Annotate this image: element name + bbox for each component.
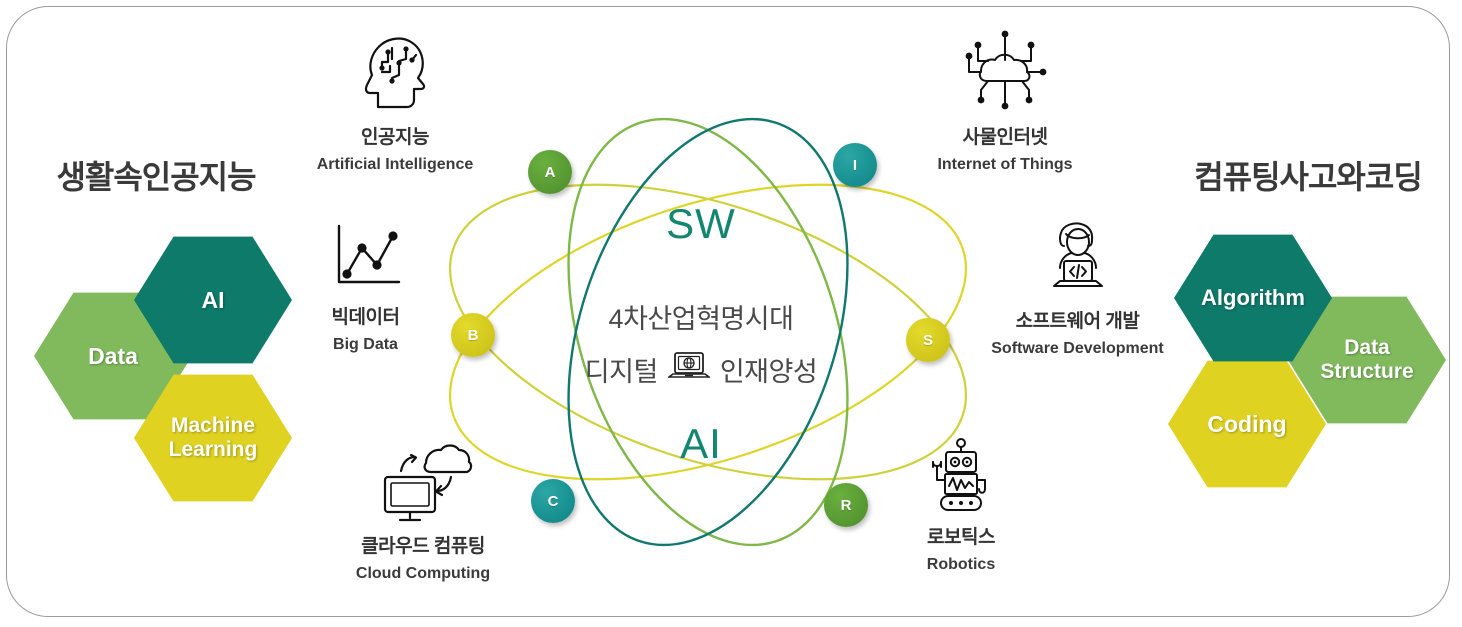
hexagon-data-structure-label: Data Structure [1320,336,1413,384]
robot-icon [836,438,1086,514]
hexagon-coding-label: Coding [1207,411,1286,437]
center-headline-before: 디지털 [585,350,658,389]
topic-cloud-label-en: Cloud Computing [298,565,548,583]
topic-sw-label-en: Software Development [945,340,1210,358]
center-headline-line1: 4차산업혁명시대 [541,297,861,336]
right-panel-title: 컴퓨팅사고와코딩 [1172,152,1444,198]
line-chart-icon [243,218,488,294]
topic-iot-label-en: Internet of Things [880,156,1130,174]
cloud-monitor-sync-icon [298,437,548,523]
ds-line1: Data [1344,336,1390,359]
infographic-canvas: 생활속인공지능 Data Machine Learning AI 컴퓨팅사고와코… [0,0,1462,627]
topic-robotics[interactable]: 로보틱스 Robotics [836,438,1086,574]
badge-artificial-intelligence[interactable]: A [528,150,572,194]
center-sw-label: SW [611,200,791,248]
topic-cloud-computing[interactable]: 클라우드 컴퓨팅 Cloud Computing [298,437,548,583]
ds-line2: Structure [1320,360,1413,383]
topic-ai-label-ko: 인공지능 [270,122,520,149]
hexagon-algorithm-label: Algorithm [1201,285,1305,310]
person-laptop-code-icon [945,222,1210,298]
center-ai-label: AI [611,420,791,468]
topic-internet-of-things[interactable]: 사물인터넷 Internet of Things [880,28,1130,174]
topic-ai-label-en: Artificial Intelligence [270,156,520,174]
center-headline-line2: 디지털 인재양성 [531,350,871,389]
hexagon-ai-label: AI [202,287,225,313]
left-panel-title: 생활속인공지능 [24,152,288,198]
badge-software-development[interactable]: S [906,318,950,362]
cloud-network-nodes-icon [880,28,1130,114]
topic-sw-label-ko: 소프트웨어 개발 [945,306,1210,333]
laptop-globe-icon [668,350,710,389]
topic-big-data[interactable]: 빅데이터 Big Data [243,218,488,354]
topic-robotics-label-en: Robotics [836,556,1086,574]
hexagon-data-label: Data [88,343,138,369]
center-headline-after: 인재양성 [720,350,817,389]
brain-head-circuit-icon [270,28,520,114]
ml-line1: Machine [171,414,255,437]
hexagon-machine-learning-label: Machine Learning [169,414,258,462]
topic-software-development[interactable]: 소프트웨어 개발 Software Development [945,222,1210,358]
topic-big-data-label-ko: 빅데이터 [243,302,488,329]
topic-big-data-label-en: Big Data [243,336,488,354]
topic-artificial-intelligence[interactable]: 인공지능 Artificial Intelligence [270,28,520,174]
badge-internet-of-things[interactable]: I [833,143,877,187]
topic-cloud-label-ko: 클라우드 컴퓨팅 [298,531,548,558]
topic-iot-label-ko: 사물인터넷 [880,122,1130,149]
ml-line2: Learning [169,438,258,461]
topic-robotics-label-ko: 로보틱스 [836,522,1086,549]
